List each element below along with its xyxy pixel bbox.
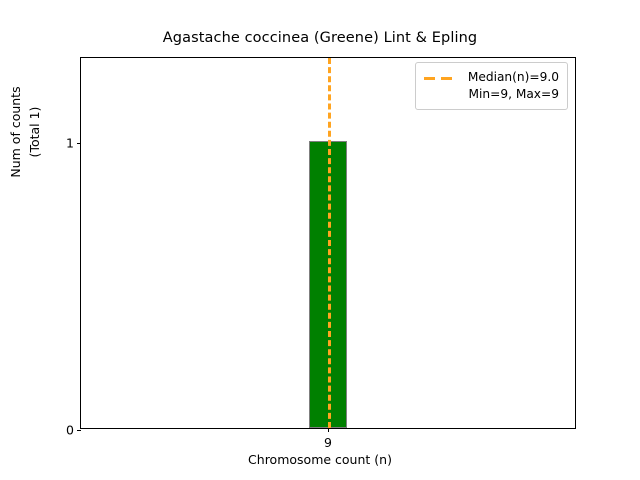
legend-entry-text: Median(n)=9.0 Min=9, Max=9 — [462, 69, 559, 103]
y-axis-label-line2: (Total 1) — [25, 0, 44, 318]
legend-label-minmax: Min=9, Max=9 — [462, 86, 559, 103]
x-axis-label: Chromosome count (n) — [0, 452, 640, 467]
legend-dashed-line-icon — [424, 70, 454, 86]
ytick-label: 0 — [66, 423, 74, 438]
y-axis-label: Num of counts (Total 1) — [6, 0, 46, 318]
plot-inner — [81, 58, 575, 428]
y-axis-label-line1: Num of counts — [6, 0, 25, 318]
ytick-mark — [77, 143, 81, 144]
median-line — [328, 58, 331, 428]
matplotlib-figure: Agastache coccinea (Greene) Lint & Eplin… — [0, 0, 640, 480]
plot-area: 0 1 9 — [80, 57, 576, 429]
ytick-label: 1 — [66, 136, 74, 151]
legend-label-median: Median(n)=9.0 — [462, 69, 559, 86]
legend[interactable]: Median(n)=9.0 Min=9, Max=9 — [415, 62, 568, 110]
chart-title: Agastache coccinea (Greene) Lint & Eplin… — [0, 30, 640, 46]
ytick-mark — [77, 430, 81, 431]
xtick-mark — [328, 428, 329, 432]
xtick-label: 9 — [324, 435, 332, 450]
